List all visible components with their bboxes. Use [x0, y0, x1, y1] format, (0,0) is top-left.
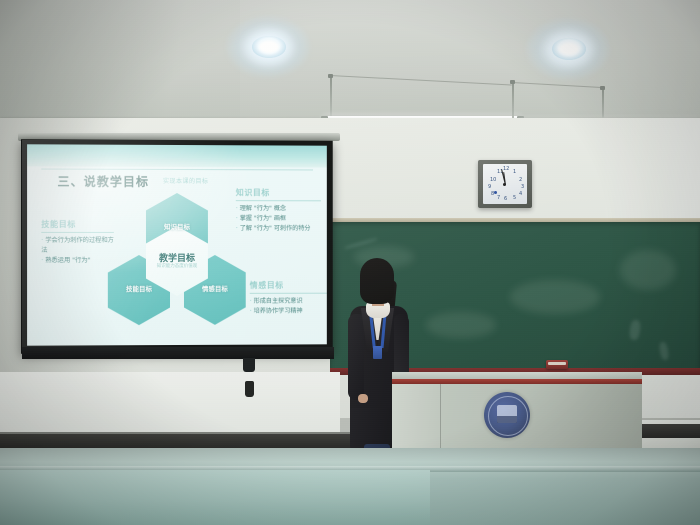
clock-hour-4: 4 — [519, 191, 522, 197]
block-underline — [250, 293, 327, 294]
presentation-slide: 三、说教学目标 实现本课的目标 知识目标 技能目标 情感目标 教学目标 知识能力… — [27, 144, 327, 345]
clock-hour-2: 2 — [519, 177, 522, 183]
block-item: 理解 "行为" 概念 — [236, 204, 321, 214]
block-item: 熟悉运用 "行为" — [41, 256, 114, 266]
clock-hour-3: 3 — [521, 184, 524, 190]
board-eraser[interactable] — [546, 360, 568, 369]
clock-brand-dot — [494, 191, 497, 194]
slide-block-knowledge: 知识目标 理解 "行为" 概念 掌握 "行为" 画框 了解 "行为" 可刺作的特… — [236, 187, 321, 235]
screen-weight-bar — [22, 347, 334, 359]
block-underline — [236, 200, 321, 201]
hexagon-diagram: 知识目标 技能目标 情感目标 教学目标 知识能力态度价值观 — [106, 193, 246, 333]
desk-surface — [0, 470, 430, 525]
clock-hour-5: 5 — [513, 195, 516, 201]
block-heading-knowledge: 知识目标 — [236, 187, 321, 198]
slide-block-emotion: 情感目标 形成自主探究意识 培养协作学习精神 — [250, 280, 327, 317]
suspension-rod — [512, 84, 514, 120]
clock-hour-10: 10 — [490, 177, 496, 183]
id-badge — [373, 346, 382, 359]
eraser-felt — [548, 362, 566, 365]
chalk-streak — [658, 341, 669, 360]
suspension-rod — [330, 78, 332, 116]
baseboard-right — [640, 424, 700, 438]
lectern-panel-seam — [440, 384, 441, 450]
block-heading-skill: 技能目标 — [41, 219, 114, 230]
block-underline — [41, 232, 114, 233]
projection-screen: 三、说教学目标 实现本课的目标 知识目标 技能目标 情感目标 教学目标 知识能力… — [21, 139, 333, 354]
block-item: 培养协作学习精神 — [250, 307, 327, 317]
hair — [360, 258, 394, 304]
spotlight-core — [259, 41, 279, 53]
hanging-cable-clip — [245, 381, 254, 397]
hexagon-label-knowledge: 知识目标 — [146, 221, 208, 231]
wall-clock: 12 1 2 3 4 5 6 7 8 9 10 11 — [478, 160, 532, 208]
lower-wall — [0, 372, 340, 434]
arm-left — [348, 314, 364, 400]
classroom-screenshot: 12 1 2 3 4 5 6 7 8 9 10 11 三、说教学目标 实现本课的… — [0, 0, 700, 525]
chalk-streak — [629, 319, 642, 340]
clock-face: 12 1 2 3 4 5 6 7 8 9 10 11 — [483, 164, 527, 204]
clock-hour-6: 6 — [504, 196, 507, 202]
clock-hour-7: 7 — [497, 195, 500, 201]
crest-base — [497, 416, 517, 423]
block-item: 掌握 "行为" 画框 — [236, 214, 321, 224]
chalk-smudge — [620, 250, 676, 290]
slide-header-band — [27, 144, 327, 167]
baseboard-highlight — [0, 432, 395, 434]
slide-divider — [41, 169, 313, 171]
block-item: 学会行为刺作的过程和方法 — [41, 236, 114, 257]
chalk-smudge — [510, 280, 600, 314]
slide-subtitle: 实现本课的目标 — [163, 176, 208, 185]
block-heading-emotion: 情感目标 — [250, 280, 327, 291]
block-item: 形成自主探究意识 — [250, 297, 327, 307]
slide-title: 三、说教学目标 — [57, 173, 149, 190]
lectern-side-panel — [392, 384, 440, 450]
clock-center-pin — [503, 183, 506, 186]
hand — [358, 394, 368, 403]
block-item: 了解 "行为" 可刺作的特分 — [236, 225, 321, 235]
baseboard — [0, 432, 395, 448]
hexagon-label-emotion: 情感目标 — [184, 283, 246, 293]
university-crest-icon — [484, 392, 530, 438]
chalk-smudge — [426, 312, 496, 338]
screen-pull-tab — [243, 358, 255, 372]
clock-hour-9: 9 — [488, 184, 491, 190]
hexagon-center-sublabel: 知识能力态度价值观 — [146, 263, 208, 269]
clock-hour-1: 1 — [513, 169, 516, 175]
spotlight-core — [559, 43, 579, 55]
hexagon-label-skill: 技能目标 — [108, 283, 170, 293]
slide-block-skill: 技能目标 学会行为刺作的过程和方法 熟悉运用 "行为" — [41, 219, 114, 267]
